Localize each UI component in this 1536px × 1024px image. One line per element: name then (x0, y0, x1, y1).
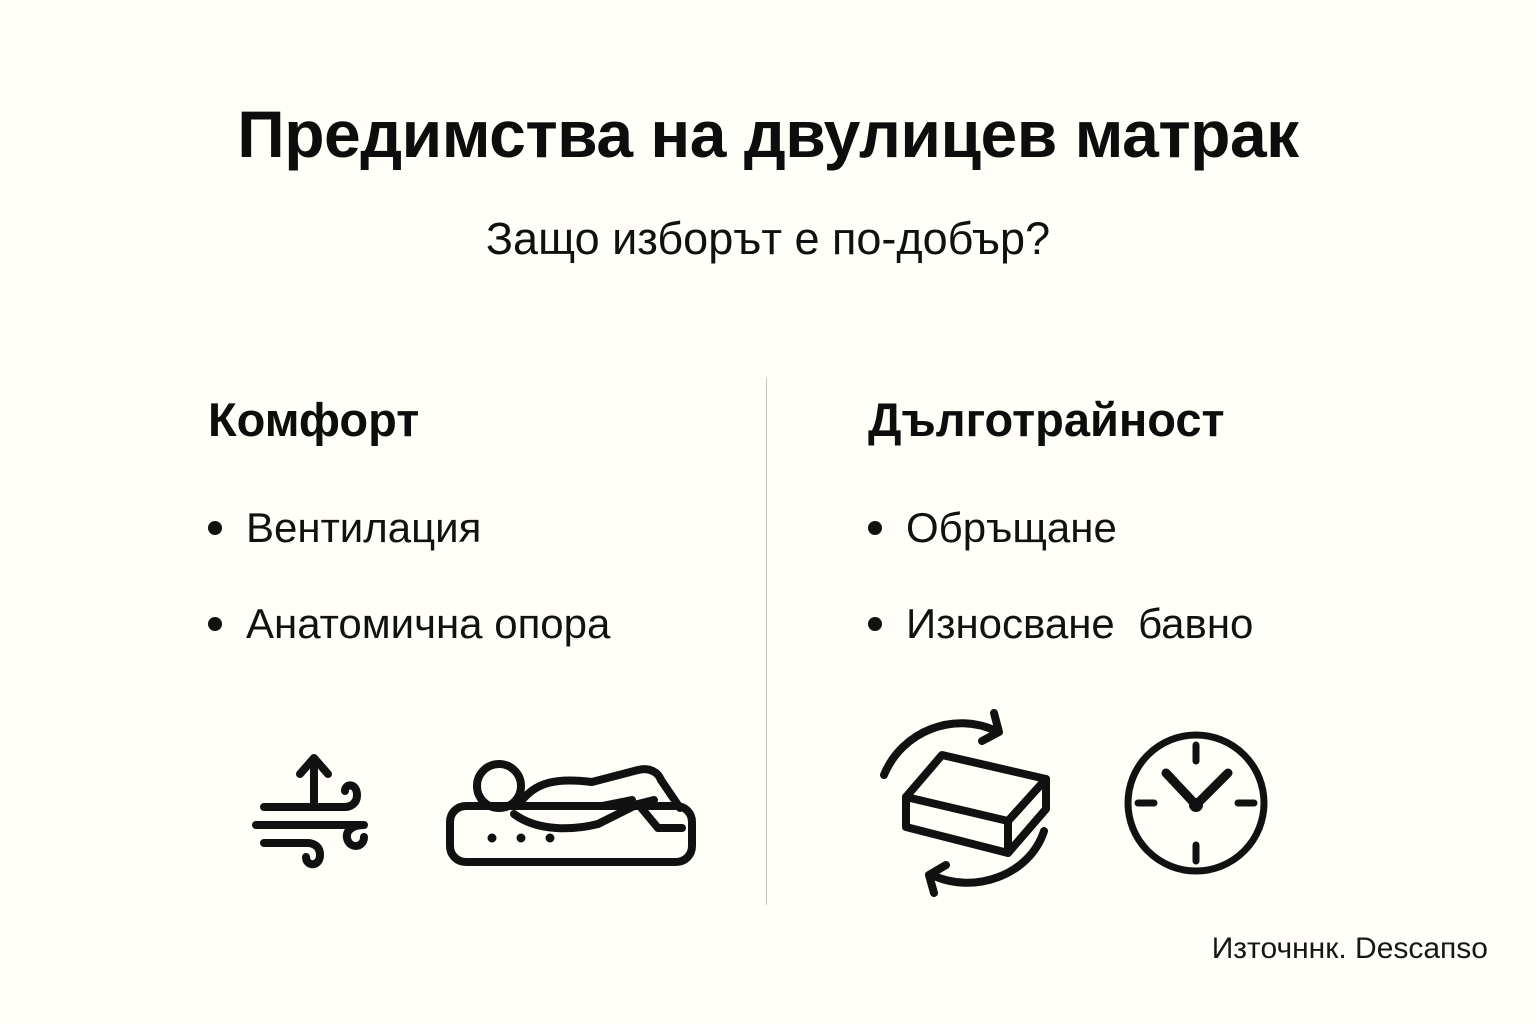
source-attribution: Източннк. Descaпso (1212, 932, 1488, 966)
page-title: Предимства на двулицев матрак (0, 101, 1536, 167)
column-durability-bullet-list: Обръщане Износване бавно (868, 501, 1428, 651)
clock-icon (1120, 727, 1272, 879)
column-durability: Дълготрайност Обръщане Износване бавно (868, 396, 1428, 693)
mattress-flip-rotate-icon (868, 705, 1064, 900)
list-item: Обръщане (868, 501, 1428, 555)
bullet-dot-icon (208, 521, 222, 535)
slide: Предимства на двулицев матрак Защо избор… (0, 0, 1536, 1024)
person-on-mattress-icon (442, 748, 700, 868)
column-comfort-heading: Комфорт (208, 396, 728, 443)
bullet-dot-icon (868, 521, 882, 535)
list-item: Анатомична опора (208, 597, 728, 651)
bullet-label: Износване бавно (906, 597, 1253, 651)
page-subtitle: Защо изборът е по-добър? (0, 216, 1536, 261)
column-comfort-bullet-list: Вентилация Анатомична опора (208, 501, 728, 651)
bullet-label: Вентилация (246, 501, 481, 555)
bullet-dot-icon (208, 617, 222, 631)
list-item: Износване бавно (868, 597, 1428, 651)
bullet-dot-icon (868, 617, 882, 631)
column-comfort: Комфорт Вентилация Анатомична опора (208, 396, 728, 693)
durability-icon-row (868, 705, 1272, 900)
column-durability-heading: Дълготрайност (868, 396, 1428, 443)
comfort-icon-row (252, 745, 700, 870)
column-divider (766, 378, 767, 905)
bullet-label: Анатомична опора (246, 597, 610, 651)
bullet-label: Обръщане (906, 501, 1117, 555)
airflow-ventilation-icon (252, 745, 392, 870)
list-item: Вентилация (208, 501, 728, 555)
